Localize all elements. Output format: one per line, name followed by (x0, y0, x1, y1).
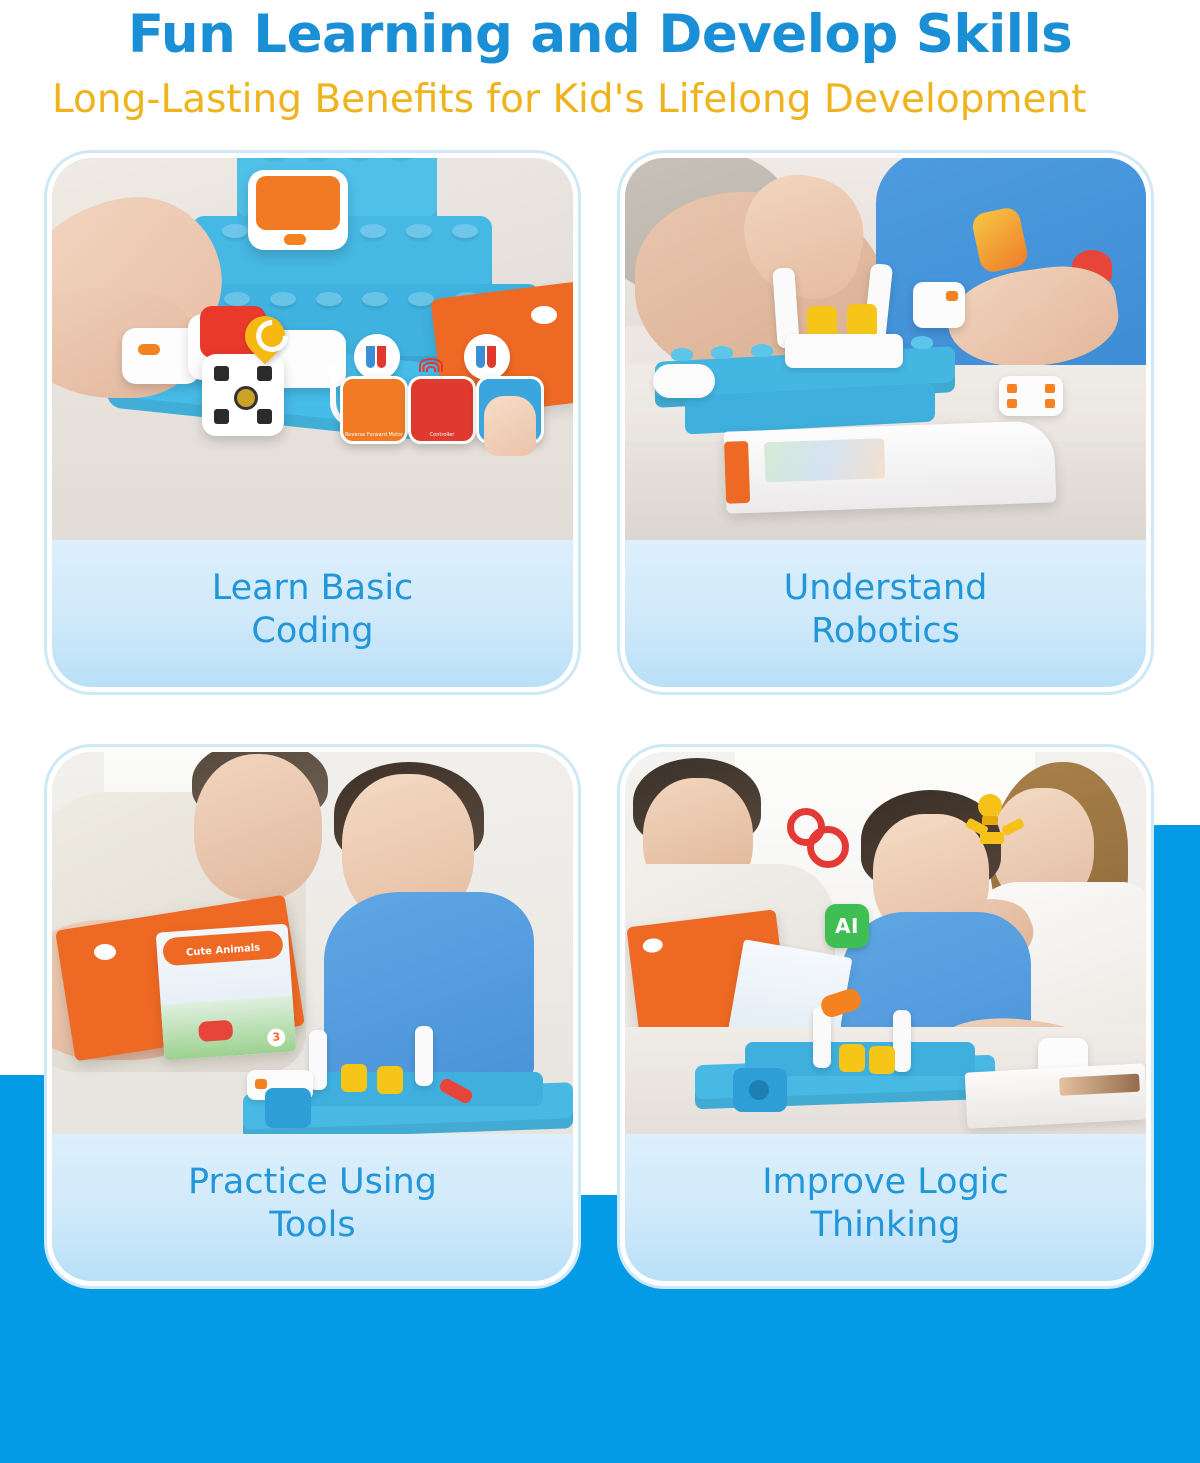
wifi-icon (420, 356, 442, 372)
photo-understand-robotics (625, 158, 1146, 540)
card-label-practice-using-tools: Practice Using Tools (52, 1134, 573, 1281)
benefit-card-improve-logic-thinking[interactable]: AI Improve Logic Thinking (620, 747, 1151, 1286)
gear-icon (787, 808, 843, 856)
ai-icon: AI (825, 904, 869, 948)
badge-reverse-forward-motor: Reverse Forward Motor (340, 376, 408, 444)
manual-title: Cute Animals (163, 941, 283, 960)
card-label-line1: Learn Basic (212, 567, 414, 610)
camera-module (733, 1068, 787, 1112)
badge-controller: Controller (408, 376, 476, 444)
photo-learn-basic-coding: Reverse Forward Motor Controller Touch (52, 158, 573, 540)
benefit-card-grid: Reverse Forward Motor Controller Touch L… (0, 153, 1200, 1286)
page-subtitle: Long-Lasting Benefits for Kid's Lifelong… (50, 77, 1150, 123)
photo-practice-using-tools: Cute Animals 3 (52, 752, 573, 1134)
badge-label: Reverse Forward Motor (343, 432, 405, 438)
magnet-icon (354, 334, 400, 380)
photo-improve-logic-thinking: AI (625, 752, 1146, 1134)
sensor-cube (913, 282, 965, 328)
card-label-understand-robotics: Understand Robotics (625, 540, 1146, 687)
magnet-icon (464, 334, 510, 380)
card-label-improve-logic-thinking: Improve Logic Thinking (625, 1134, 1146, 1281)
lightbulb-icon (966, 794, 1020, 850)
card-label-line2: Robotics (811, 610, 960, 653)
card-label-line2: Coding (251, 610, 373, 653)
card-label-line2: Tools (269, 1204, 355, 1247)
card-label-line2: Thinking (811, 1204, 961, 1247)
benefit-card-practice-using-tools[interactable]: Cute Animals 3 Practice Using Tools (47, 747, 578, 1286)
badge-label: Controller (411, 432, 473, 438)
card-label-line1: Understand (784, 567, 988, 610)
card-label-learn-basic-coding: Learn Basic Coding (52, 540, 573, 687)
page-title: Fun Learning and Develop Skills (50, 6, 1150, 63)
benefit-card-understand-robotics[interactable]: Understand Robotics (620, 153, 1151, 692)
benefits-infographic: { "colors": { "brand_blue": "#039BE5", "… (0, 0, 1200, 1463)
card-label-line1: Improve Logic (762, 1161, 1009, 1204)
header: Fun Learning and Develop Skills Long-Las… (0, 0, 1200, 123)
open-manual (724, 421, 1057, 514)
motor-module (202, 354, 284, 436)
benefit-card-learn-basic-coding[interactable]: Reverse Forward Motor Controller Touch L… (47, 153, 578, 692)
card-label-line1: Practice Using (188, 1161, 437, 1204)
